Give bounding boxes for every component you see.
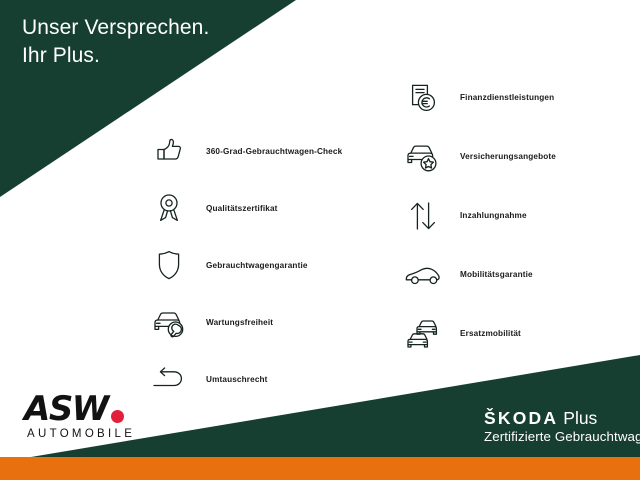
car-side-icon xyxy=(400,252,446,298)
feature-item-maintenance-free: Wartungsfreiheit xyxy=(146,295,342,349)
asw-logo: ASW AUTOMOBILE xyxy=(24,392,204,440)
asw-red-dot-icon xyxy=(111,410,124,423)
title-line-2: Ihr Plus. xyxy=(22,42,209,70)
thumbs-up-icon xyxy=(146,128,192,174)
two-cars-icon xyxy=(400,311,446,357)
feature-label: Ersatzmobilität xyxy=(460,329,521,338)
feature-label: Gebrauchtwagengarantie xyxy=(206,261,308,270)
award-rosette-icon xyxy=(146,185,192,231)
promo-banner: Unser Versprechen. Ihr Plus. 360-Grad-Ge… xyxy=(0,0,640,480)
feature-item-warranty: Gebrauchtwagengarantie xyxy=(146,238,342,292)
feature-item-trade-in: Inzahlungnahme xyxy=(400,188,556,243)
feature-label: Inzahlungnahme xyxy=(460,211,527,220)
feature-label: Umtauschrecht xyxy=(206,375,268,384)
asw-wordmark-row: ASW xyxy=(24,392,204,426)
skoda-tagline: Zertifizierte Gebrauchtwagen xyxy=(484,429,640,445)
feature-label: Finanzdienstleistungen xyxy=(460,93,554,102)
shield-icon xyxy=(146,242,192,288)
feature-item-insurance-offers: Versicherungsangebote xyxy=(400,129,556,184)
feature-item-mobility-guarantee: Mobilitätsgarantie xyxy=(400,247,556,302)
feature-label: Mobilitätsgarantie xyxy=(460,270,533,279)
feature-label: Wartungsfreiheit xyxy=(206,318,273,327)
asw-subtitle: AUTOMOBILE xyxy=(27,428,204,440)
feature-item-replacement-mobility: Ersatzmobilität xyxy=(400,306,556,361)
car-star-icon xyxy=(400,134,446,180)
page-title: Unser Versprechen. Ihr Plus. xyxy=(22,14,209,70)
feature-list-left: 360-Grad-Gebrauchtwagen-Check Qualitätsz… xyxy=(146,124,342,409)
title-line-1: Unser Versprechen. xyxy=(22,16,209,39)
skoda-plus-label: Plus xyxy=(563,408,597,428)
orange-bottom-bar xyxy=(0,457,640,480)
asw-wordmark: ASW xyxy=(24,392,108,426)
feature-label: Qualitätszertifikat xyxy=(206,204,278,213)
skoda-plus-logo: ŠKODA Plus Zertifizierte Gebrauchtwagen xyxy=(484,408,640,445)
feature-item-financial-services: Finanzdienstleistungen xyxy=(400,70,556,125)
feature-label: 360-Grad-Gebrauchtwagen-Check xyxy=(206,147,342,156)
skoda-brand-row: ŠKODA Plus xyxy=(484,408,640,428)
feature-label: Versicherungsangebote xyxy=(460,152,556,161)
skoda-wordmark: ŠKODA xyxy=(484,408,558,428)
feature-list-right: Finanzdienstleistungen Versicherungsange… xyxy=(400,70,556,365)
car-wrench-icon xyxy=(146,299,192,345)
arrows-up-down-icon xyxy=(400,193,446,239)
feature-item-360-check: 360-Grad-Gebrauchtwagen-Check xyxy=(146,124,342,178)
feature-item-quality-certificate: Qualitätszertifikat xyxy=(146,181,342,235)
document-euro-icon xyxy=(400,75,446,121)
